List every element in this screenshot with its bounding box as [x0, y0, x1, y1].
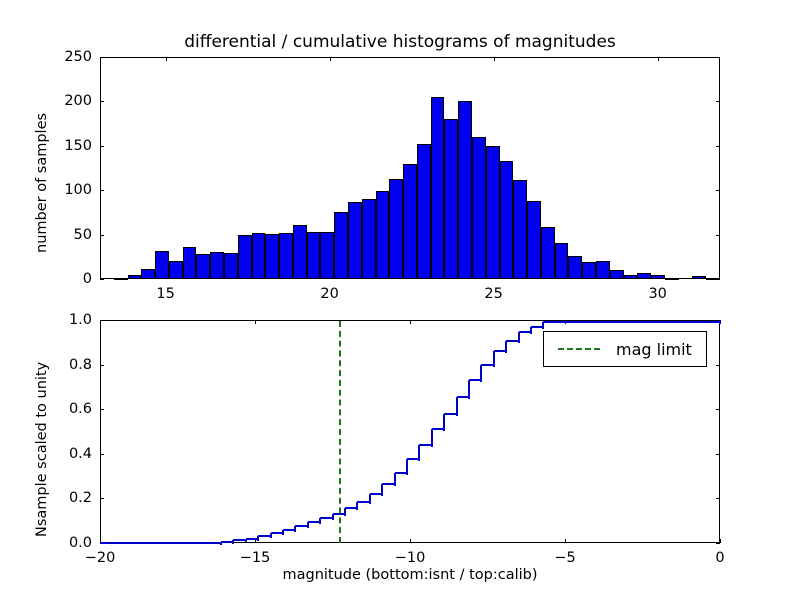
histogram-bar [265, 234, 279, 279]
step-vertical-segment [530, 327, 532, 335]
top-ytick-label: 150 [30, 138, 92, 154]
legend-label: mag limit [616, 340, 706, 359]
histogram-bar [389, 179, 403, 279]
bottom-xtick-label: −20 [85, 550, 116, 566]
histogram-bar [252, 233, 266, 279]
histogram-bar [541, 227, 555, 279]
step-vertical-segment [468, 380, 470, 399]
step-vertical-segment [505, 341, 507, 353]
step-vertical-segment [406, 459, 408, 474]
step-vertical-segment [431, 429, 433, 447]
step-vertical-segment [394, 473, 396, 486]
bottom-ytick-mark [100, 454, 104, 455]
bottom-xtick-label: −15 [240, 550, 271, 566]
bottom-ytick-label: 0.8 [30, 357, 92, 373]
histogram-bar [555, 243, 569, 279]
top-ytick-mark [716, 101, 720, 102]
matplotlib-figure: differential / cumulative histograms of … [0, 0, 800, 600]
step-vertical-segment [518, 332, 520, 343]
top-xtick-mark [330, 57, 331, 61]
histogram-bar [665, 278, 679, 280]
histogram-bar [458, 101, 472, 279]
bottom-xtick-mark [565, 539, 566, 543]
top-xtick-label: 20 [320, 286, 338, 302]
top-ytick-mark [100, 101, 104, 102]
histogram-bar [403, 164, 417, 279]
bottom-xtick-mark [720, 539, 721, 543]
histogram-bar [334, 212, 348, 279]
top-ytick-mark [100, 190, 104, 191]
bottom-ytick-mark [716, 409, 720, 410]
step-vertical-segment [381, 484, 383, 496]
histogram-bar [320, 232, 334, 279]
histogram-bar [610, 270, 624, 279]
step-horizontal-segment [543, 321, 720, 323]
histogram-bar [128, 275, 142, 279]
top-ytick-mark [100, 57, 104, 58]
figure-xlabel: magnitude (bottom:isnt / top:calib) [100, 567, 720, 583]
top-ytick-mark [716, 146, 720, 147]
step-vertical-segment [456, 397, 458, 416]
top-ytick-mark [100, 146, 104, 147]
histogram-bar [155, 251, 169, 279]
histogram-bar [293, 225, 307, 279]
bottom-xtick-label: −10 [395, 550, 426, 566]
histogram-bar [637, 273, 651, 279]
top-ytick-mark [100, 235, 104, 236]
top-xtick-label: 15 [156, 286, 174, 302]
histogram-bar [527, 201, 541, 279]
histogram-bar [500, 161, 514, 279]
top-ytick-mark [100, 279, 104, 280]
bottom-xtick-mark [100, 320, 101, 324]
top-ytick-mark [716, 190, 720, 191]
step-vertical-segment [719, 320, 721, 324]
step-vertical-segment [493, 351, 495, 366]
histogram-bar [513, 180, 527, 279]
histogram-bar [568, 256, 582, 279]
top-ytick-label: 0 [30, 271, 92, 287]
histogram-bar [141, 269, 155, 279]
top-xtick-label: 25 [484, 286, 502, 302]
bottom-ytick-mark [100, 409, 104, 410]
histogram-bar [362, 199, 376, 279]
histogram-bar [486, 146, 500, 279]
top-ytick-mark [716, 235, 720, 236]
bottom-ytick-label: 0.4 [30, 446, 92, 462]
histogram-bar [651, 275, 665, 279]
histogram-bar [417, 144, 431, 279]
histogram-bar [196, 254, 210, 279]
histogram-bar [692, 276, 706, 279]
top-xtick-mark [658, 57, 659, 61]
bottom-ytick-mark [716, 365, 720, 366]
histogram-bar [279, 233, 293, 279]
top-ytick-mark [716, 57, 720, 58]
histogram-bar [624, 275, 638, 279]
histogram-bar [238, 235, 252, 279]
mag-limit-vline [339, 321, 341, 543]
bottom-ytick-label: 0.6 [30, 401, 92, 417]
histogram-bar [472, 137, 486, 279]
bottom-ytick-mark [716, 498, 720, 499]
step-vertical-segment [480, 365, 482, 383]
step-vertical-segment [443, 414, 445, 432]
bottom-ytick-label: 0.2 [30, 490, 92, 506]
histogram-bar [596, 261, 610, 279]
histogram-bar [169, 261, 183, 279]
bottom-ytick-mark [716, 543, 720, 544]
top-ytick-label: 50 [30, 227, 92, 243]
bottom-ytick-label: 1.0 [30, 312, 92, 328]
legend-box[interactable]: mag limit [543, 331, 707, 367]
bottom-xtick-mark [255, 539, 256, 543]
step-vertical-segment [344, 508, 346, 516]
bottom-xtick-mark [410, 539, 411, 543]
histogram-bar [348, 202, 362, 279]
bottom-ytick-mark [100, 498, 104, 499]
figure-title: differential / cumulative histograms of … [0, 32, 800, 52]
histogram-bar [114, 278, 128, 280]
histogram-bar [224, 253, 238, 279]
bottom-ytick-label: 0.0 [30, 535, 92, 551]
step-vertical-segment [369, 494, 371, 504]
bottom-xtick-mark [410, 320, 411, 324]
bottom-ytick-mark [100, 365, 104, 366]
top-ytick-label: 100 [30, 182, 92, 198]
histogram-bar [706, 278, 720, 280]
histogram-bar [376, 191, 390, 279]
step-vertical-segment [418, 445, 420, 461]
top-xtick-label: 30 [648, 286, 666, 302]
dashed-line-icon [558, 348, 600, 350]
histogram-bar [210, 252, 224, 279]
bottom-xtick-label: −5 [554, 550, 575, 566]
histogram-bar [307, 232, 321, 279]
histogram-bar [444, 119, 458, 279]
top-xtick-mark [166, 57, 167, 61]
bottom-xtick-mark [255, 320, 256, 324]
step-horizontal-segment [100, 542, 209, 544]
top-ytick-label: 200 [30, 93, 92, 109]
histogram-bar [183, 247, 197, 279]
bottom-ytick-mark [716, 454, 720, 455]
bottom-xtick-label: 0 [715, 550, 724, 566]
histogram-bar [582, 262, 596, 279]
step-vertical-segment [356, 502, 358, 511]
top-ytick-label: 250 [30, 49, 92, 65]
histogram-bar [431, 97, 445, 279]
top-xtick-mark [494, 57, 495, 61]
